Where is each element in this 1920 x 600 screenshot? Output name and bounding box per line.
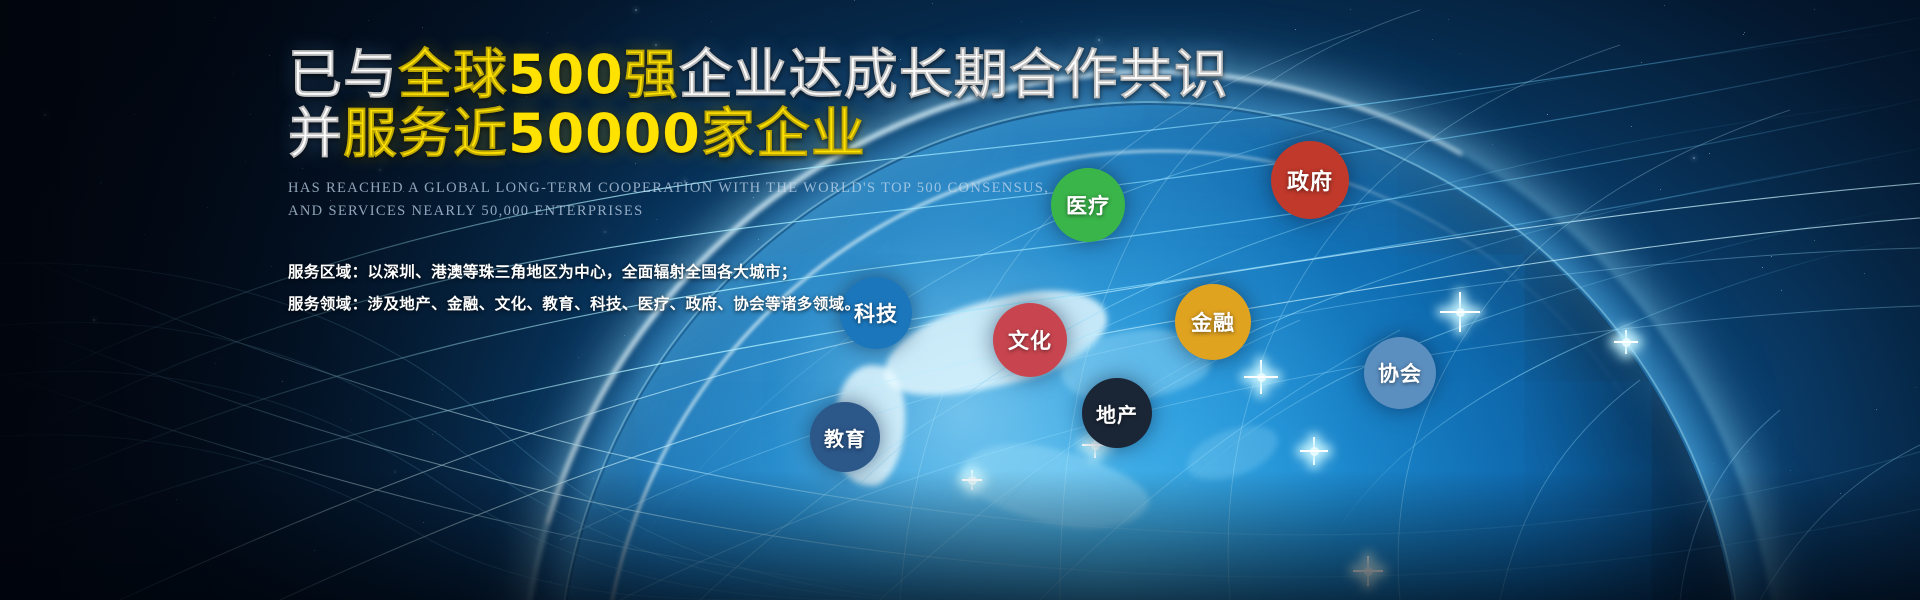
headline-1-part-2: 全球500强 — [398, 43, 679, 106]
category-node-4[interactable]: 金融 — [1175, 284, 1251, 360]
promo-banner: 已与全球500强企业达成长期合作共识 并服务近50000家企业 HAS REAC… — [0, 0, 1920, 600]
category-node-label: 地产 — [1096, 399, 1138, 428]
category-node-6[interactable]: 地产 — [1082, 378, 1152, 448]
subtitle-english-line-1: HAS REACHED A GLOBAL LONG-TERM COOPERATI… — [288, 177, 1128, 200]
headline-1-part-3: 企业达成长期合作共识 — [679, 43, 1229, 106]
category-node-7[interactable]: 教育 — [810, 402, 880, 472]
copy-block: 已与全球500强企业达成长期合作共识 并服务近50000家企业 HAS REAC… — [288, 48, 1128, 321]
category-node-label: 协会 — [1378, 358, 1422, 388]
category-node-label: 政府 — [1287, 164, 1333, 196]
description-line-service-area: 服务区域：以深圳、港澳等珠三角地区为中心，全面辐射全国各大城市； — [288, 257, 1128, 289]
category-node-5[interactable]: 协会 — [1364, 337, 1436, 409]
headline-2-part-1: 并 — [288, 102, 343, 165]
category-node-label: 文化 — [1008, 325, 1052, 355]
headline: 已与全球500强企业达成长期合作共识 并服务近50000家企业 — [288, 48, 1128, 161]
headline-line-1: 已与全球500强企业达成长期合作共识 — [288, 48, 1128, 102]
category-node-label: 教育 — [824, 423, 866, 452]
subtitle-english: HAS REACHED A GLOBAL LONG-TERM COOPERATI… — [288, 177, 1128, 223]
subtitle-english-line-2: AND SERVICES NEARLY 50,000 ENTERPRISES — [288, 200, 1128, 223]
category-node-0[interactable]: 政府 — [1271, 141, 1349, 219]
headline-line-2: 并服务近50000家企业 — [288, 107, 1128, 161]
description-block: 服务区域：以深圳、港澳等珠三角地区为中心，全面辐射全国各大城市； 服务领域：涉及… — [288, 257, 1128, 321]
category-node-label: 金融 — [1191, 307, 1235, 337]
headline-2-part-2: 服务近50000家企业 — [343, 102, 866, 165]
description-line-service-fields: 服务领域：涉及地产、金融、文化、教育、科技、医疗、政府、协会等诸多领域。 — [288, 289, 1128, 321]
headline-1-part-1: 已与 — [288, 43, 398, 106]
